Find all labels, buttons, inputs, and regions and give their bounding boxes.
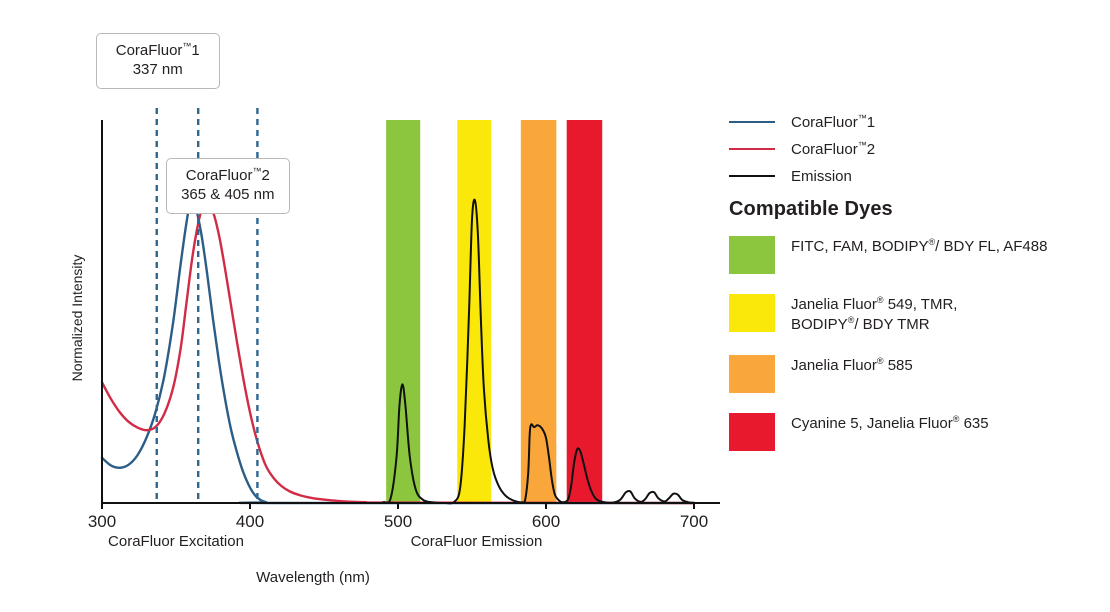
x-axis-tick-label: 500 [384, 512, 412, 531]
legend-item-label: Emission [791, 167, 852, 185]
dye-band [457, 120, 491, 503]
dye-band [386, 120, 420, 503]
callout-one-value: 337 nm [109, 61, 207, 80]
dye-color-swatch [729, 413, 775, 451]
x-axis-title: Wavelength (nm) [256, 569, 370, 586]
legend-item: CoraFluor™2 [729, 135, 1089, 162]
dye-band [521, 120, 557, 503]
dye-color-swatch [729, 236, 775, 274]
legend-line-swatch [729, 148, 775, 150]
dye-item-label: Cyanine 5, Janelia Fluor® 635 [791, 413, 989, 434]
x-axis-tick-label: 700 [680, 512, 708, 531]
legend-item: CoraFluor™1 [729, 108, 1089, 135]
axis-region-label: CoraFluor Excitation [108, 533, 244, 550]
callout-corafluor-2: CoraFluor™2 365 & 405 nm [166, 158, 290, 214]
dye-list-item: Janelia Fluor® 549, TMR,BODIPY®/ BDY TMR [729, 294, 1099, 335]
x-axis-tick-label: 400 [236, 512, 264, 531]
dye-color-swatch [729, 294, 775, 332]
dye-item-label: Janelia Fluor® 549, TMR,BODIPY®/ BDY TMR [791, 294, 957, 335]
callout-one-title: CoraFluor™1 [109, 41, 207, 61]
x-axis-tick-label: 300 [88, 512, 116, 531]
series-legend: CoraFluor™1CoraFluor™2Emission [729, 108, 1089, 189]
dye-list-item: Cyanine 5, Janelia Fluor® 635 [729, 413, 1099, 451]
dye-item-label: Janelia Fluor® 585 [791, 355, 913, 376]
callout-two-value: 365 & 405 nm [179, 186, 277, 205]
dye-list-item: FITC, FAM, BODIPY®/ BDY FL, AF488 [729, 236, 1099, 274]
dye-color-swatch [729, 355, 775, 393]
dye-band-layer [386, 120, 602, 503]
compatible-dyes-title: Compatible Dyes [729, 198, 893, 221]
legend-item: Emission [729, 162, 1089, 189]
callout-two-title: CoraFluor™2 [179, 166, 277, 186]
dye-item-label: FITC, FAM, BODIPY®/ BDY FL, AF488 [791, 236, 1047, 257]
legend-item-label: CoraFluor™1 [791, 113, 875, 131]
dye-list-item: Janelia Fluor® 585 [729, 355, 1099, 393]
dye-band [567, 120, 603, 503]
axis-region-label: CoraFluor Emission [411, 533, 543, 550]
x-axis-tick-label: 600 [532, 512, 560, 531]
y-axis-title: Normalized Intensity [69, 255, 85, 382]
compatible-dyes-list: FITC, FAM, BODIPY®/ BDY FL, AF488Janelia… [729, 236, 1099, 471]
chart-stage: 300400500600700CoraFluor ExcitationCoraF… [0, 0, 1110, 612]
legend-line-swatch [729, 175, 775, 177]
legend-line-swatch [729, 121, 775, 123]
callout-corafluor-1: CoraFluor™1 337 nm [96, 33, 220, 89]
legend-item-label: CoraFluor™2 [791, 140, 875, 158]
